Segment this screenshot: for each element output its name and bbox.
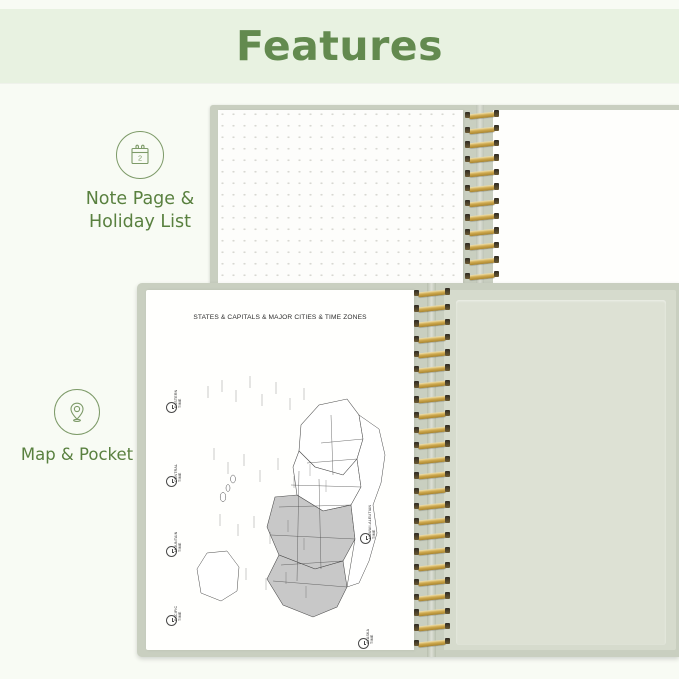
spiral-coil [418, 457, 446, 464]
spiral-coil [469, 214, 495, 221]
spiral-coil-end [445, 592, 450, 598]
spiral-coil-end [494, 198, 499, 204]
spiral-coil-end [494, 140, 499, 146]
spiral-binding-bottom [414, 285, 450, 655]
timezone-label: CENTRAL TIME [175, 463, 183, 481]
spiral-coil-end [465, 200, 470, 206]
spiral-coil-end [414, 503, 419, 509]
spiral-coil-end [414, 564, 419, 570]
spiral-coil-end [414, 336, 419, 342]
timezone-marker-pacific: PACIFIC TIME [166, 615, 194, 626]
spiral-coil-end [445, 577, 450, 583]
timezone-marker-central: CENTRAL TIME [166, 476, 197, 487]
spiral-coil [418, 350, 446, 357]
spiral-coil-end [465, 273, 470, 279]
spiral-coil [418, 320, 446, 327]
map-page: STATES & CAPITALS & MAJOR CITIES & TIME … [146, 290, 414, 650]
spiral-coil-end [445, 440, 450, 446]
page-title: Features [236, 22, 443, 70]
timezone-marker-mountain: MOUNTAIN TIME [166, 546, 200, 557]
spiral-coil-end [465, 156, 470, 162]
spiral-coil-end [414, 640, 419, 646]
spiral-coil [418, 578, 446, 585]
feature-label: Note Page & Holiday List [86, 188, 195, 234]
timezone-label: EASTERN TIME [175, 389, 183, 407]
spiral-coil [418, 563, 446, 570]
svg-text:2: 2 [138, 153, 142, 162]
spiral-coil [418, 396, 446, 403]
spiral-coil [418, 594, 446, 601]
spiral-coil-end [445, 380, 450, 386]
spiral-coil-end [494, 271, 499, 277]
spiral-coil-end [414, 320, 419, 326]
spiral-coil-end [414, 579, 419, 585]
spiral-coil [418, 305, 446, 312]
spiral-coil [469, 170, 495, 177]
timezone-marker-alaska: ALASKA TIME [358, 638, 386, 649]
timezone-label: MOUNTAIN TIME [175, 531, 183, 552]
spiral-coil-end [465, 185, 470, 191]
spiral-coil [418, 624, 446, 631]
spiral-coil [418, 487, 446, 494]
header-band: Features [0, 9, 679, 83]
spiral-coil-end [414, 457, 419, 463]
spiral-coil [418, 335, 446, 342]
spiral-coil-end [414, 518, 419, 524]
spiral-coil [469, 155, 495, 162]
spiral-coil-end [414, 351, 419, 357]
spiral-coil-end [445, 319, 450, 325]
spiral-coil [469, 243, 495, 250]
spiral-coil-end [445, 304, 450, 310]
spiral-coil [469, 185, 495, 192]
spiral-coil [418, 609, 446, 616]
spiral-coil [418, 548, 446, 555]
spiral-coil-end [445, 608, 450, 614]
spiral-coil [469, 272, 495, 279]
spiral-coil-end [414, 594, 419, 600]
spiral-coil-end [465, 141, 470, 147]
spiral-coil [418, 381, 446, 388]
spiral-coil-end [445, 349, 450, 355]
spiral-coil-end [494, 110, 499, 116]
spiral-coil-end [465, 214, 470, 220]
spiral-coil [469, 258, 495, 265]
spiral-coil-end [445, 516, 450, 522]
spiral-coil [418, 411, 446, 418]
spiral-coil-end [445, 532, 450, 538]
spiral-coil-end [414, 472, 419, 478]
spiral-coil-end [414, 427, 419, 433]
spiral-coil [418, 518, 446, 525]
dot-grid-note-page [218, 110, 463, 290]
spiral-coil [418, 472, 446, 479]
spiral-coil-end [494, 183, 499, 189]
spiral-coil [418, 426, 446, 433]
spiral-coil-end [445, 638, 450, 644]
spiral-coil-end [494, 227, 499, 233]
notebook-bottom-spread: STATES & CAPITALS & MAJOR CITIES & TIME … [137, 283, 679, 657]
holiday-list-page: Holiday 2026 2027 New Year's DayJan-01Ja… [493, 110, 679, 290]
spiral-coil-end [414, 609, 419, 615]
spiral-coil-end [445, 623, 450, 629]
timezone-label: PACIFIC TIME [175, 605, 183, 620]
feature-label: Map & Pocket [21, 444, 133, 466]
spiral-coil-end [445, 547, 450, 553]
spiral-coil [418, 502, 446, 509]
spiral-coil-end [414, 548, 419, 554]
calendar-note-icon: 2 [116, 131, 164, 179]
spiral-coil [418, 366, 446, 373]
spiral-coil [469, 141, 495, 148]
spiral-coil [469, 228, 495, 235]
spiral-coil [418, 639, 446, 646]
spiral-coil-end [445, 471, 450, 477]
spiral-coil [469, 199, 495, 206]
spiral-coil-end [494, 256, 499, 262]
spiral-coil-end [414, 396, 419, 402]
spiral-coil-end [445, 410, 450, 416]
spiral-coil-end [445, 288, 450, 294]
spiral-coil-end [445, 486, 450, 492]
spiral-coil-end [494, 125, 499, 131]
spiral-coil-end [494, 169, 499, 175]
spiral-coil-end [494, 154, 499, 160]
spiral-coil-end [465, 229, 470, 235]
product-feature-page: Features 2 Note Page & Holiday List [0, 0, 679, 679]
spiral-coil [469, 126, 495, 133]
spiral-coil [418, 442, 446, 449]
timezone-label: ALASKA TIME [367, 628, 375, 643]
header-divider [0, 83, 679, 84]
timezone-label: HAWAII-ALEUTIAN TIME [369, 504, 377, 538]
spiral-coil-end [414, 290, 419, 296]
pocket-page [444, 290, 676, 650]
spiral-coil-end [494, 213, 499, 219]
spiral-coil-end [414, 624, 419, 630]
spiral-coil-end [445, 395, 450, 401]
spiral-coil-end [445, 364, 450, 370]
spiral-coil-end [445, 425, 450, 431]
feature-note-page-holiday-list: 2 Note Page & Holiday List [70, 131, 210, 234]
pocket-panel[interactable] [456, 300, 666, 645]
spiral-coil-end [445, 334, 450, 340]
feature-map-pocket: Map & Pocket [18, 389, 136, 466]
spiral-coil-end [414, 533, 419, 539]
spiral-coil-end [445, 456, 450, 462]
spiral-binding-top [465, 105, 499, 290]
spiral-coil-end [494, 242, 499, 248]
spiral-coil [469, 112, 495, 119]
timezone-marker-eastern: EASTERN TIME [166, 402, 197, 413]
spiral-coil-end [414, 366, 419, 372]
spiral-coil [418, 533, 446, 540]
timezone-marker-hawaii-aleutian: HAWAII-ALEUTIAN TIME [360, 533, 407, 544]
spiral-coil-end [465, 127, 470, 133]
spiral-coil-end [465, 170, 470, 176]
spiral-coil [418, 290, 446, 297]
map-title: STATES & CAPITALS & MAJOR CITIES & TIME … [146, 314, 414, 321]
spiral-coil-end [414, 305, 419, 311]
spiral-coil-end [414, 442, 419, 448]
spiral-coil-end [445, 501, 450, 507]
spiral-coil-end [465, 112, 470, 118]
notebook-top-spread: Holiday 2026 2027 New Year's DayJan-01Ja… [210, 105, 679, 290]
spiral-coil-end [445, 562, 450, 568]
spiral-coil-end [465, 258, 470, 264]
spiral-coil-end [465, 243, 470, 249]
map-pin-icon [54, 389, 100, 435]
spiral-coil-end [414, 488, 419, 494]
spiral-coil-end [414, 412, 419, 418]
spiral-coil-end [414, 381, 419, 387]
